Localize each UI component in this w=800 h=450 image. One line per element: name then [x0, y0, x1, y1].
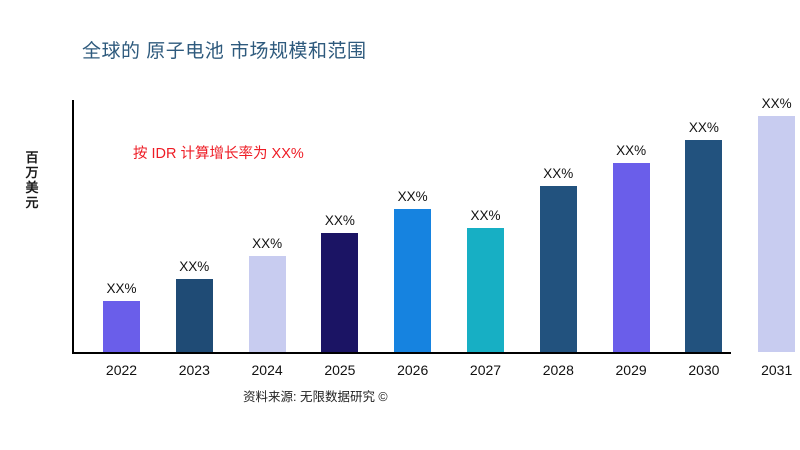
bar[interactable]	[103, 301, 140, 352]
bar[interactable]	[394, 209, 431, 352]
bar[interactable]	[176, 279, 213, 352]
x-axis-tick-label: 2023	[158, 352, 231, 378]
bar-group[interactable]: XX%2030	[667, 140, 740, 352]
bar-group[interactable]: XX%2031	[740, 116, 800, 352]
x-axis-tick-label: 2025	[303, 352, 376, 378]
bar-value-label: XX%	[449, 208, 522, 223]
source-note: 资料来源: 无限数据研究 ©	[243, 386, 388, 405]
bar-group[interactable]: XX%2029	[595, 163, 668, 352]
x-axis-tick-label: 2024	[231, 352, 304, 378]
bar-group[interactable]: XX%2024	[231, 256, 304, 352]
bar[interactable]	[467, 228, 504, 352]
bar-group[interactable]: XX%2022	[85, 301, 158, 352]
x-axis-tick-label: 2030	[667, 352, 740, 378]
x-axis-tick-label: 2027	[449, 352, 522, 378]
bar-value-label: XX%	[303, 213, 376, 228]
bar-value-label: XX%	[231, 236, 304, 251]
bar[interactable]	[613, 163, 650, 352]
bar-group[interactable]: XX%2023	[158, 279, 231, 352]
chart-figure: 全球的 原子电池 市场规模和范围 百 万 美 元 按 IDR 计算增长率为 XX…	[0, 0, 800, 450]
bar-group[interactable]: XX%2026	[376, 209, 449, 352]
plot-area: XX%2022XX%2023XX%2024XX%2025XX%2026XX%20…	[0, 0, 800, 450]
bar[interactable]	[758, 116, 795, 352]
bar-value-label: XX%	[158, 259, 231, 274]
x-axis-tick-label: 2029	[595, 352, 668, 378]
bar-value-label: XX%	[667, 120, 740, 135]
bar-group[interactable]: XX%2025	[303, 233, 376, 352]
bar[interactable]	[685, 140, 722, 352]
bar-value-label: XX%	[376, 189, 449, 204]
bar[interactable]	[249, 256, 286, 352]
bar-value-label: XX%	[595, 143, 668, 158]
bar-group[interactable]: XX%2027	[449, 228, 522, 352]
x-axis-tick-label: 2022	[85, 352, 158, 378]
bar-value-label: XX%	[522, 166, 595, 181]
x-axis-tick-label: 2026	[376, 352, 449, 378]
x-axis-tick-label: 2028	[522, 352, 595, 378]
bar[interactable]	[321, 233, 358, 352]
bar[interactable]	[540, 186, 577, 352]
x-axis-tick-label: 2031	[740, 352, 800, 378]
bar-value-label: XX%	[85, 281, 158, 296]
bar-value-label: XX%	[740, 96, 800, 111]
bar-group[interactable]: XX%2028	[522, 186, 595, 352]
